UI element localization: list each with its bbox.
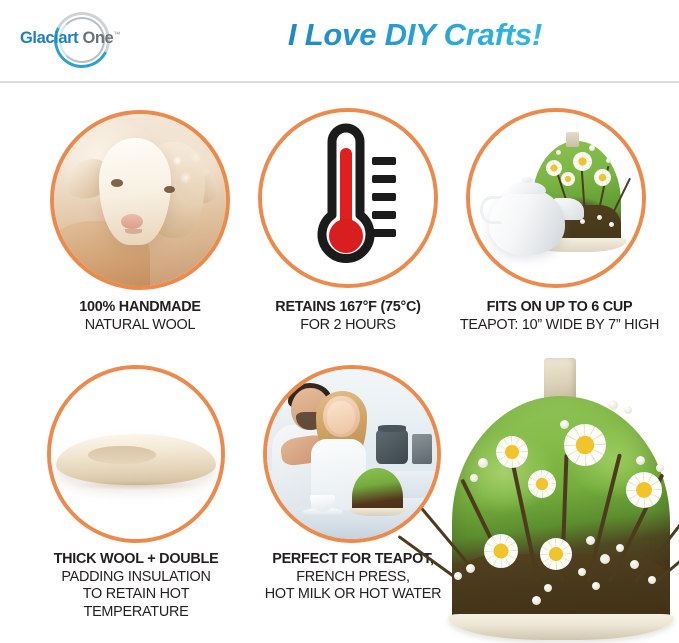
daisy-bud xyxy=(586,536,595,545)
caption-title: 100% HANDMADE xyxy=(20,299,260,317)
daisy-flower xyxy=(496,436,528,468)
caption-line: FRENCH PRESS, xyxy=(242,569,464,587)
kettle-lid xyxy=(378,425,407,432)
caption-title: THICK WOOL + DOUBLE xyxy=(14,551,258,569)
teapot-handle xyxy=(480,196,502,224)
logo-brand-secondary: One xyxy=(82,29,113,47)
daisy-bud xyxy=(454,572,462,580)
daisy-bud xyxy=(648,576,656,584)
daisy-bud xyxy=(624,406,632,414)
caption-line: FOR 2 HOURS xyxy=(232,317,464,335)
brand-logo: Glaciart One™ xyxy=(16,10,166,70)
couple-kitchen-photo xyxy=(267,369,437,539)
daisy-flower xyxy=(573,152,592,171)
caption-title: RETAINS 167°F (75°C) xyxy=(232,299,464,317)
wool-padding-fold xyxy=(88,446,156,465)
caption-line: TEMPERATURE xyxy=(14,604,258,622)
caption-line: TO RETAIN HOT xyxy=(14,586,258,604)
daisy-bud xyxy=(532,596,541,605)
daisy-bud xyxy=(556,150,561,155)
daisy-bud xyxy=(656,464,664,472)
trademark-symbol: ™ xyxy=(113,32,120,39)
caption-title: FITS ON UP TO 6 CUP xyxy=(440,299,679,317)
kitchen-appliance xyxy=(412,434,432,465)
daisy-flower xyxy=(528,470,556,498)
caption-line: PADDING INSULATION xyxy=(14,569,258,587)
teapot-knob xyxy=(521,177,533,184)
page-header: Glaciart One™ I Love DIY Crafts! xyxy=(0,0,679,82)
kettle xyxy=(376,430,408,464)
daisy-bud xyxy=(630,560,639,569)
caption-line: NATURAL WOOL xyxy=(20,317,260,335)
thermometer-circle xyxy=(258,108,438,288)
teapot-lid xyxy=(508,182,546,194)
logo-text: Glaciart One™ xyxy=(20,29,120,48)
daisy-bud xyxy=(616,544,624,552)
hero-product-image xyxy=(448,358,676,643)
thermometer-icon xyxy=(262,112,434,284)
thermometer-svg xyxy=(262,112,438,288)
daisy-bud xyxy=(600,554,610,564)
caption-line: HOT MILK OR HOT WATER xyxy=(242,586,464,604)
sheep-photo xyxy=(54,114,226,286)
caption-line: TEAPOT: 10” WIDE BY 7” HIGH xyxy=(440,317,679,335)
caption-teapot-fit: FITS ON UP TO 6 CUP TEAPOT: 10” WIDE BY … xyxy=(440,299,679,334)
wool-padding-shadow xyxy=(71,481,200,490)
daisy-flower xyxy=(564,424,606,466)
daisy-bud xyxy=(592,582,600,590)
couple-photo-circle xyxy=(263,365,441,543)
page-title: I Love DIY Crafts! xyxy=(205,17,625,53)
daisy-bud xyxy=(466,564,475,573)
daisy-bud xyxy=(544,584,552,592)
wool-padding-photo xyxy=(51,369,221,539)
tea-cozy-small-loop xyxy=(566,132,579,147)
sheep-photo-circle xyxy=(50,110,230,290)
daisy-flower xyxy=(626,472,662,508)
tea-cozy-base-trim xyxy=(448,614,674,640)
daisy-bud xyxy=(636,456,645,465)
caption-handmade: 100% HANDMADE NATURAL WOOL xyxy=(20,299,260,334)
sheep-eye-left xyxy=(111,179,123,187)
daisy-bud xyxy=(478,458,488,468)
teapot-with-cozy-photo xyxy=(470,112,642,284)
caption-heat-retention: RETAINS 167°F (75°C) FOR 2 HOURS xyxy=(232,299,464,334)
daisy-flower xyxy=(594,169,611,186)
daisy-bud xyxy=(578,568,586,576)
header-divider xyxy=(0,81,679,83)
wool-padding-circle xyxy=(47,365,225,543)
woman-face xyxy=(327,401,356,433)
daisy-bud xyxy=(470,474,478,482)
daisy-flower xyxy=(484,534,518,568)
teapot-photo-circle xyxy=(466,108,646,288)
daisy-flower xyxy=(540,538,572,570)
daisy-bud xyxy=(608,400,618,410)
daisy-bud xyxy=(589,145,595,151)
daisy-bud xyxy=(560,420,569,429)
caption-thick-wool: THICK WOOL + DOUBLE PADDING INSULATION T… xyxy=(14,551,258,621)
logo-brand-primary: Glaciart xyxy=(20,29,78,47)
daisy-flower xyxy=(546,160,562,176)
